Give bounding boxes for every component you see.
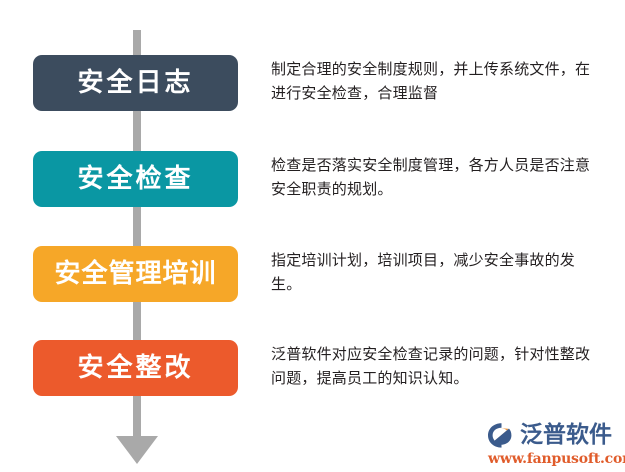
stage-label: 安全检查 <box>77 166 193 192</box>
stage-description: 制定合理的安全制度规则，并上传系统文件，在进行安全检查，合理监督 <box>271 55 601 106</box>
brand-lockup: 泛普软件 <box>487 420 612 450</box>
fanpu-swoosh-logo-icon <box>487 422 517 449</box>
brand-watermark: 泛普软件 www.fanpusoft.com <box>487 420 625 468</box>
flow-step-row: 安全管理培训 指定培训计划，培训项目，减少安全事故的发生。 <box>0 246 625 302</box>
flow-arrow-head-icon <box>116 436 158 464</box>
flow-step-row: 安全检查 检查是否落实安全制度管理，各方人员是否注意安全职责的规划。 <box>0 151 625 207</box>
stage-description: 泛普软件对应安全检查记录的问题，针对性整改问题，提高员工的知识认知。 <box>271 340 601 391</box>
process-flow-diagram: 安全日志 制定合理的安全制度规则，并上传系统文件，在进行安全检查，合理监督 安全… <box>0 0 625 472</box>
stage-box-safety-management-training[interactable]: 安全管理培训 <box>33 246 238 302</box>
stage-label: 安全整改 <box>77 355 193 381</box>
flow-step-row: 安全整改 泛普软件对应安全检查记录的问题，针对性整改问题，提高员工的知识认知。 <box>0 340 625 396</box>
flow-step-row: 安全日志 制定合理的安全制度规则，并上传系统文件，在进行安全检查，合理监督 <box>0 55 625 111</box>
stage-label: 安全日志 <box>77 70 193 96</box>
brand-name: 泛普软件 <box>520 424 612 447</box>
stage-box-safety-rectification[interactable]: 安全整改 <box>33 340 238 396</box>
stage-label: 安全管理培训 <box>54 261 216 287</box>
stage-box-safety-inspection[interactable]: 安全检查 <box>33 151 238 207</box>
brand-url: www.fanpusoft.com <box>488 452 625 466</box>
stage-description: 指定培训计划，培训项目，减少安全事故的发生。 <box>271 246 601 297</box>
stage-description: 检查是否落实安全制度管理，各方人员是否注意安全职责的规划。 <box>271 151 601 202</box>
stage-box-safety-log[interactable]: 安全日志 <box>33 55 238 111</box>
